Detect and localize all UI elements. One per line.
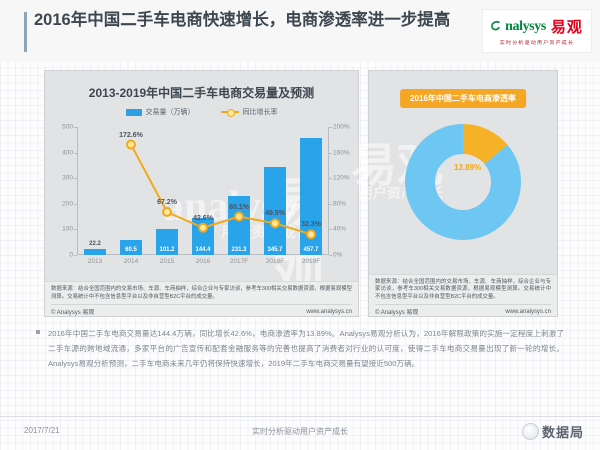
- chart-title: 2013-2019年中国二手车电商交易量及预测: [45, 84, 358, 101]
- growth-value-label: 42.6%: [193, 215, 213, 222]
- bullet-icon: [36, 330, 40, 334]
- y2-tick-label: 80%: [333, 200, 346, 207]
- growth-point: [307, 230, 315, 238]
- y2-tick-mark: [329, 153, 332, 154]
- growth-line: [131, 145, 311, 235]
- growth-value-label: 172.6%: [119, 132, 143, 139]
- growth-line-series: [77, 127, 329, 255]
- page-title: 2016年中国二手车电商快速增长，电商渗透率进一步提高: [34, 10, 464, 31]
- analysys-mark-icon: [491, 21, 500, 32]
- right-copyright: © Analysys 易观: [375, 307, 418, 316]
- y-tick-label: 300: [62, 175, 73, 182]
- donut-value-label: 13.89%: [454, 163, 481, 172]
- x-tick-label: 2017F: [230, 258, 248, 265]
- x-tick-label: 2014: [124, 258, 138, 265]
- footnote-divider: [51, 304, 352, 305]
- y2-tick-mark: [329, 204, 332, 205]
- y2-tick-mark: [329, 255, 332, 256]
- footnote-divider-right: [375, 304, 551, 305]
- left-source-text: 数据来源：结合全国范围内的交易市场、车源、车商抽样，综合企业与专家访谈，参考车3…: [51, 286, 352, 301]
- y2-tick-mark: [329, 229, 332, 230]
- footer-slogan: 实时分析驱动用户资产成长: [252, 426, 348, 437]
- bar-line-chart-panel: analysys 易观 用户资产成长 2013-2019年中国二手车电商交易量及…: [44, 70, 359, 317]
- y2-tick-label: 200%: [333, 124, 350, 131]
- brand-tagline: 实时分析驱动用户资产成长: [500, 39, 574, 45]
- shujuju-logo: 数据局: [522, 422, 584, 441]
- y-tick-label: 400: [62, 149, 73, 156]
- growth-point: [163, 208, 171, 216]
- donut-svg: [404, 123, 522, 241]
- y2-tick-label: 120%: [333, 175, 350, 182]
- growth-value-label: 32.3%: [301, 221, 321, 228]
- shujuju-logo-text: 数据局: [542, 422, 584, 441]
- donut-chart: 13.89%: [404, 123, 522, 246]
- growth-point: [127, 141, 135, 149]
- right-url[interactable]: www.analysys.cn: [505, 309, 551, 315]
- donut-title-badge: 2016年中国二手车电商渗透率: [400, 89, 526, 108]
- shujuju-mark-icon: [522, 423, 539, 440]
- x-tick-label: 2019F: [302, 258, 320, 265]
- y-tick-label: 200: [62, 200, 73, 207]
- analysys-logo: nalysys 易观 实时分析驱动用户资产成长: [482, 9, 592, 53]
- left-copyright: © Analysys 易观: [51, 307, 94, 316]
- growth-value-label: 49.5%: [265, 210, 285, 217]
- legend-item-growth: 同比增长率: [221, 107, 278, 117]
- right-source-text: 数据来源：结合全国范围内的交易市场、车源、车商抽样，综合企业与专家访谈，参考车3…: [375, 279, 551, 302]
- title-accent-bar: [24, 12, 27, 52]
- y-tick-label: 100: [62, 226, 73, 233]
- analysis-paragraph: 2016年中国二手车电商交易量达144.4万辆，同比增长42.6%，电商渗透率为…: [36, 326, 564, 371]
- growth-value-label: 60.1%: [229, 204, 249, 211]
- brand-cn-text: 易观: [551, 16, 583, 37]
- line-swatch-icon: [221, 108, 239, 116]
- y2-tick-label: 0%: [333, 252, 342, 259]
- right-panel-footnote: 数据来源：结合全国范围内的交易市场、车源、车商抽样，综合企业与专家访谈，参考车3…: [369, 274, 557, 317]
- footer-date: 2017/7/21: [24, 426, 60, 435]
- y2-tick-mark: [329, 178, 332, 179]
- x-tick-label: 2016: [196, 258, 210, 265]
- left-url[interactable]: www.analysys.cn: [306, 309, 352, 315]
- brand-en-text: nalysys: [505, 19, 546, 35]
- growth-point: [271, 219, 279, 227]
- bar-swatch-icon: [126, 109, 142, 116]
- page-footer: 2017/7/21 实时分析驱动用户资产成长 数据局: [0, 416, 600, 450]
- y2-tick-label: 40%: [333, 226, 346, 233]
- y-tick-label: 0: [69, 252, 73, 259]
- analysis-paragraph-text: 2016年中国二手车电商交易量达144.4万辆，同比增长42.6%，电商渗透率为…: [36, 326, 564, 371]
- legend-label-growth: 同比增长率: [243, 107, 278, 117]
- growth-point: [235, 213, 243, 221]
- chart-plot-area: 0100200300400500 0%40%80%120%160%200% 22…: [77, 127, 329, 255]
- growth-point: [199, 224, 207, 232]
- y-tick-label: 500: [62, 124, 73, 131]
- x-tick-label: 2015: [160, 258, 174, 265]
- x-tick-label: 2018F: [266, 258, 284, 265]
- page-header: 2016年中国二手车电商快速增长，电商渗透率进一步提高 nalysys 易观 实…: [0, 0, 600, 62]
- y2-tick-label: 160%: [333, 149, 350, 156]
- chart-legend: 交易量（万辆） 同比增长率: [45, 107, 358, 117]
- growth-value-label: 67.2%: [157, 199, 177, 206]
- left-panel-footnote: 数据来源：结合全国范围内的交易市场、车源、车商抽样，综合企业与专家访谈，参考车3…: [45, 281, 358, 316]
- legend-item-volume: 交易量（万辆）: [126, 107, 195, 117]
- x-tick-label: 2013: [88, 258, 102, 265]
- y-tick-mark: [74, 255, 77, 256]
- legend-label-volume: 交易量（万辆）: [146, 107, 195, 117]
- y2-tick-mark: [329, 127, 332, 128]
- donut-chart-panel: 易观 用户资产成长 2016年中国二手车电商渗透率 13.89% 数据来源：结合…: [368, 70, 558, 317]
